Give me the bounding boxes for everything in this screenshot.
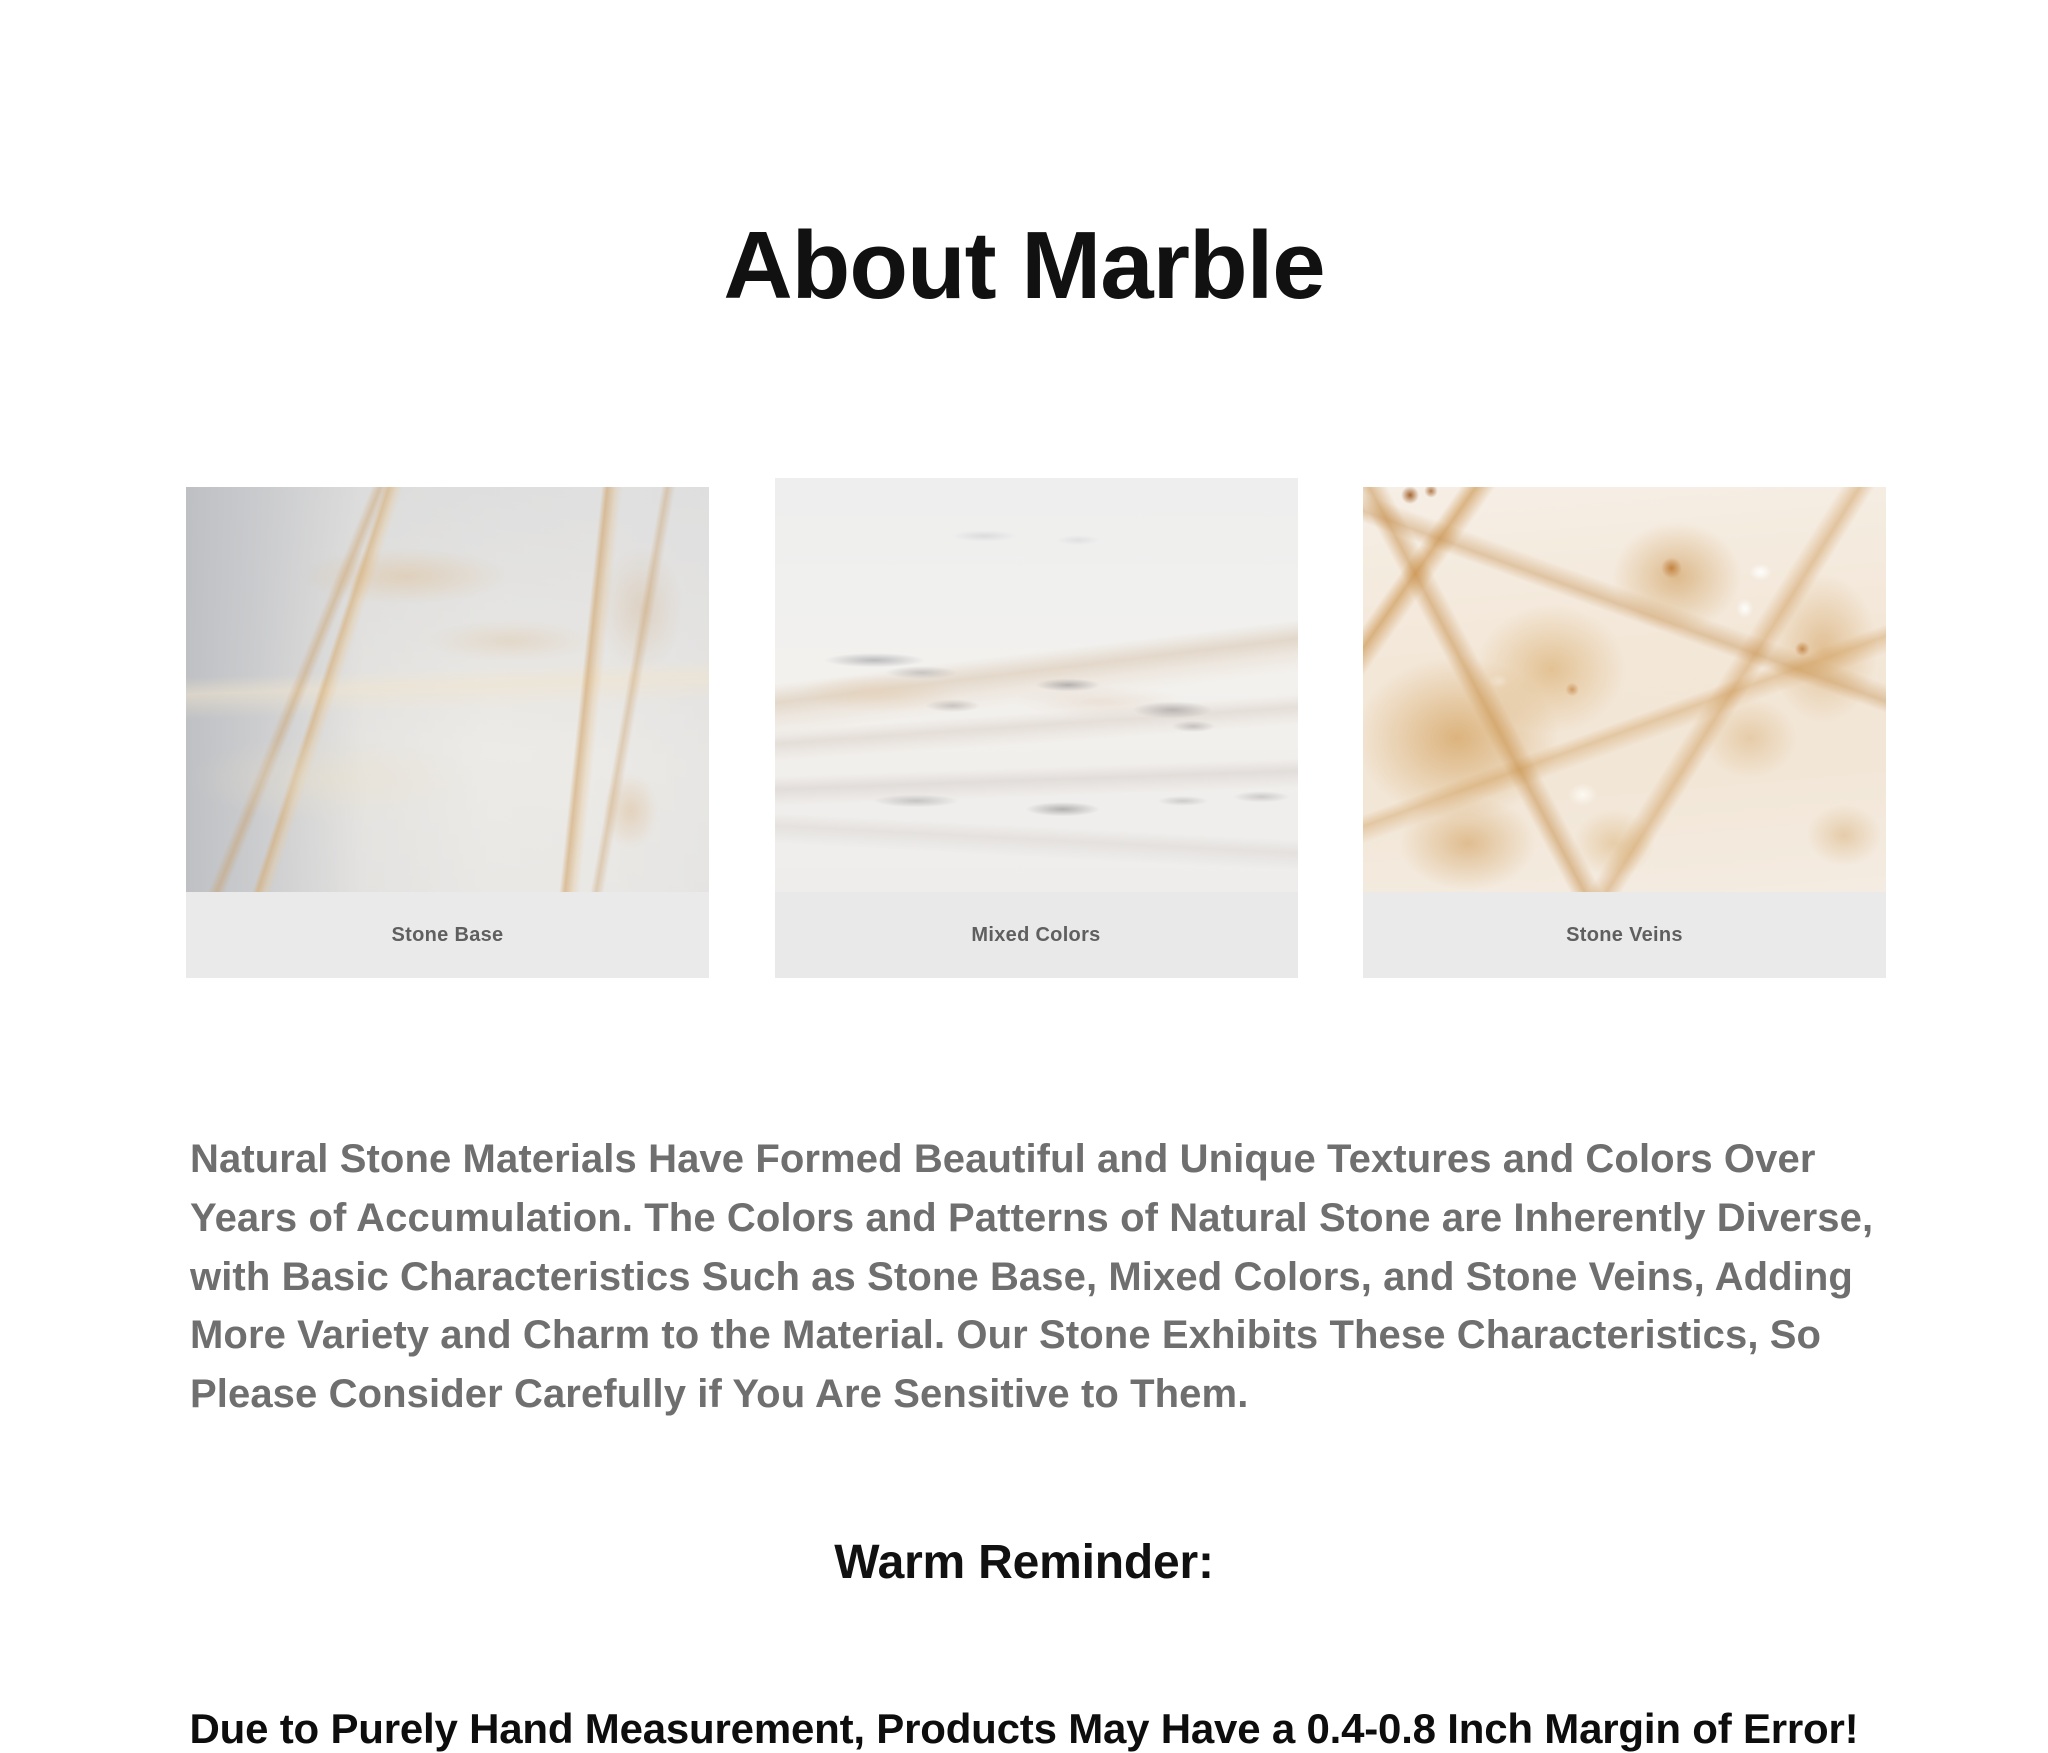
- marble-texture-stone-veins: [1363, 487, 1886, 892]
- marble-texture-mixed-colors: [775, 478, 1298, 892]
- marble-swatch-mixed-colors-image: [775, 478, 1298, 892]
- marble-swatch-card: Stone Veins: [1363, 487, 1886, 978]
- marble-swatch-stone-base-image: [186, 487, 709, 892]
- marble-swatch-card: Stone Base: [186, 487, 709, 978]
- marble-swatch-caption: Stone Base: [186, 892, 709, 978]
- marble-swatch-gallery: Stone Base Mixed Colors Stone Veins: [186, 478, 1886, 978]
- warm-reminder-heading: Warm Reminder:: [0, 1535, 2048, 1590]
- marble-swatch-stone-veins-image: [1363, 487, 1886, 892]
- marble-texture-stone-base: [186, 487, 709, 892]
- page-title: About Marble: [0, 216, 2048, 317]
- about-marble-page: About Marble Stone Base Mixed Colors Sto…: [0, 0, 2048, 1750]
- marble-swatch-caption: Mixed Colors: [775, 892, 1298, 978]
- marble-swatch-card: Mixed Colors: [775, 478, 1298, 978]
- marble-swatch-caption: Stone Veins: [1363, 892, 1886, 978]
- body-paragraph: Natural Stone Materials Have Formed Beau…: [190, 1130, 1930, 1424]
- measurement-disclaimer: Due to Purely Hand Measurement, Products…: [0, 1705, 2048, 1753]
